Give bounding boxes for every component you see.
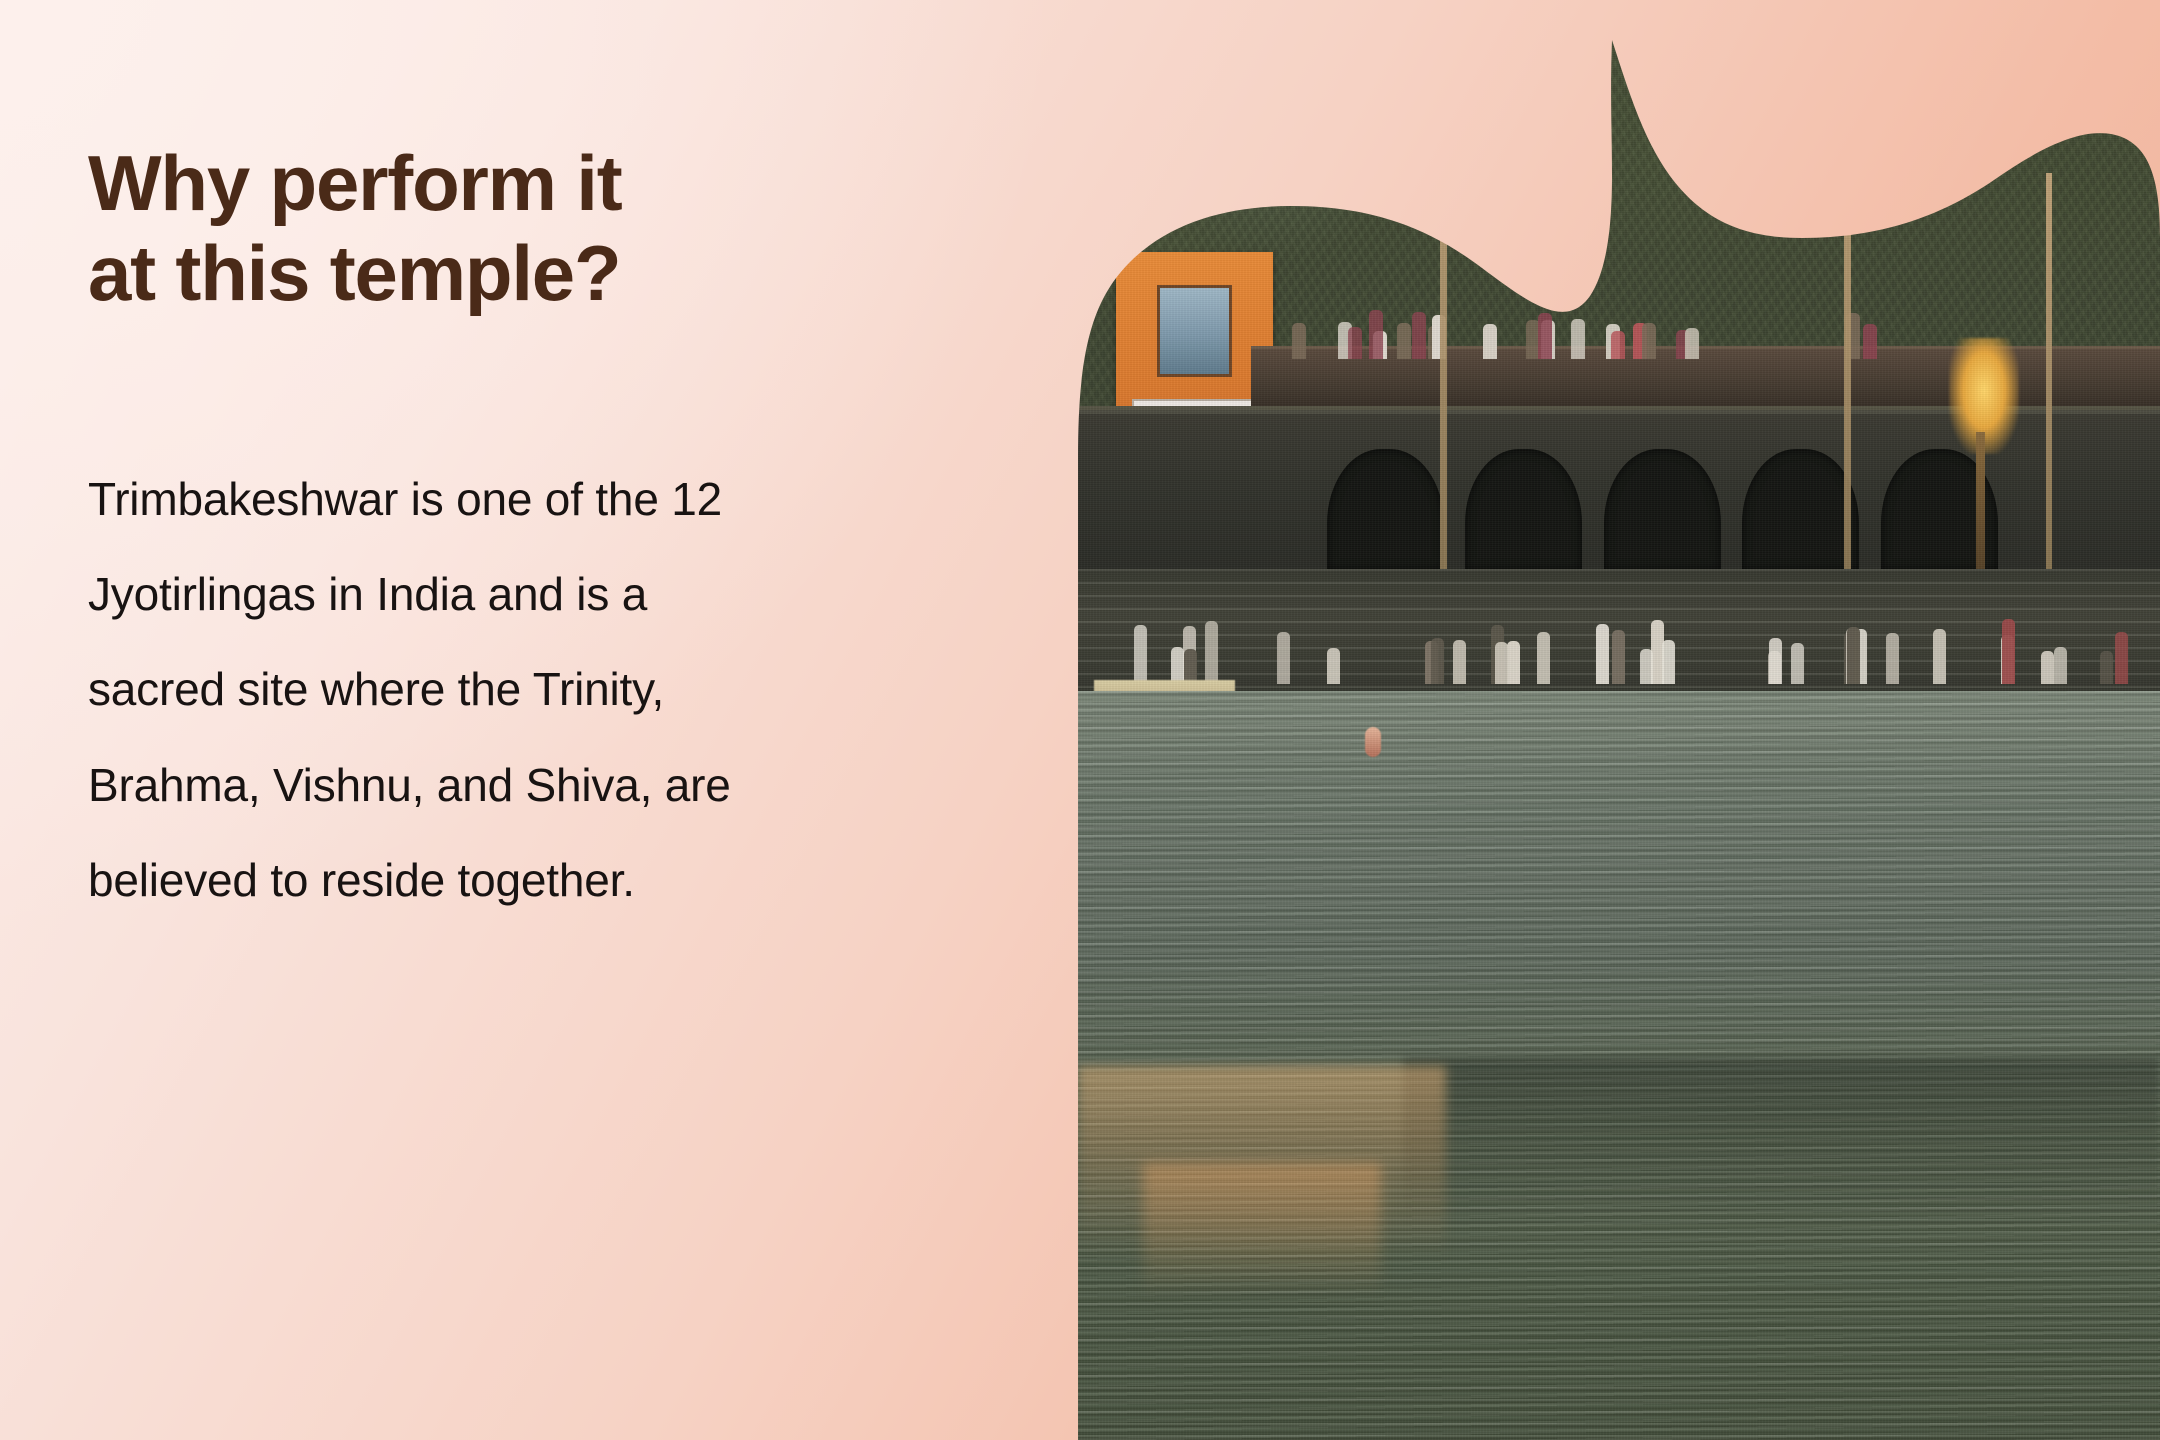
person-figure [1507, 641, 1520, 684]
deity-portrait-icon [1157, 285, 1232, 377]
bather-figure [1365, 727, 1381, 757]
person-figure [1537, 632, 1550, 684]
person-figure [1596, 624, 1609, 684]
person-figure [2054, 647, 2067, 684]
dark-reflection [1403, 1058, 2160, 1223]
body-paragraph: Trimbakeshwar is one of the 12 Jyotirlin… [88, 452, 1008, 928]
person-figure [1292, 323, 1306, 359]
person-figure [1933, 629, 1946, 684]
person-figure [1662, 640, 1675, 684]
person-figure [1863, 324, 1877, 358]
person-figure [1495, 642, 1508, 684]
person-figure [1642, 323, 1656, 359]
person-figure [1886, 633, 1899, 684]
person-figure [1571, 319, 1585, 358]
person-figure [1184, 649, 1197, 684]
image-panel [1078, 0, 2160, 1440]
person-figure [1397, 323, 1411, 359]
flag-pole [1440, 101, 1447, 591]
terrace-crowd [1262, 310, 1911, 359]
person-figure [1791, 643, 1804, 684]
kund-water [1078, 691, 2160, 1440]
person-figure [1205, 621, 1218, 684]
arch-opening [1327, 449, 1444, 570]
person-figure [1453, 640, 1466, 684]
arch-opening [1604, 449, 1721, 570]
person-figure [2115, 632, 2128, 684]
page-title: Why perform it at this temple? [88, 138, 988, 319]
temple-photo [1078, 0, 2160, 1440]
person-figure [1483, 324, 1497, 359]
person-figure [1611, 331, 1625, 358]
text-panel: Why perform it at this temple? Trimbakes… [0, 0, 1078, 1440]
person-figure [1369, 310, 1383, 359]
person-figure [1134, 625, 1147, 684]
arch-opening [1465, 449, 1582, 570]
flag-pole [2046, 173, 2052, 576]
person-figure [1769, 638, 1782, 684]
person-figure [2100, 651, 2113, 684]
person-figure [1171, 647, 1184, 684]
person-figure [1847, 627, 1860, 684]
arch-photo-frame [1078, 0, 2160, 1440]
person-figure [2041, 651, 2054, 684]
person-figure [1538, 313, 1552, 358]
person-figure [1348, 327, 1362, 359]
person-figure [1412, 312, 1426, 358]
info-card: Why perform it at this temple? Trimbakes… [0, 0, 2160, 1440]
ghat-crowd [1078, 576, 2160, 684]
person-figure [1685, 328, 1699, 358]
person-figure [1327, 648, 1340, 685]
person-figure [1640, 649, 1653, 684]
lamp-post [1976, 432, 1985, 590]
person-figure [2002, 619, 2015, 684]
warm-reflection-secondary [1143, 1163, 1381, 1298]
arch-opening [1742, 449, 1859, 570]
flag-pole [1844, 130, 1851, 591]
person-figure [1277, 632, 1290, 684]
person-figure [1612, 630, 1625, 684]
arched-colonnade [1327, 449, 1998, 570]
person-figure [1431, 638, 1444, 684]
